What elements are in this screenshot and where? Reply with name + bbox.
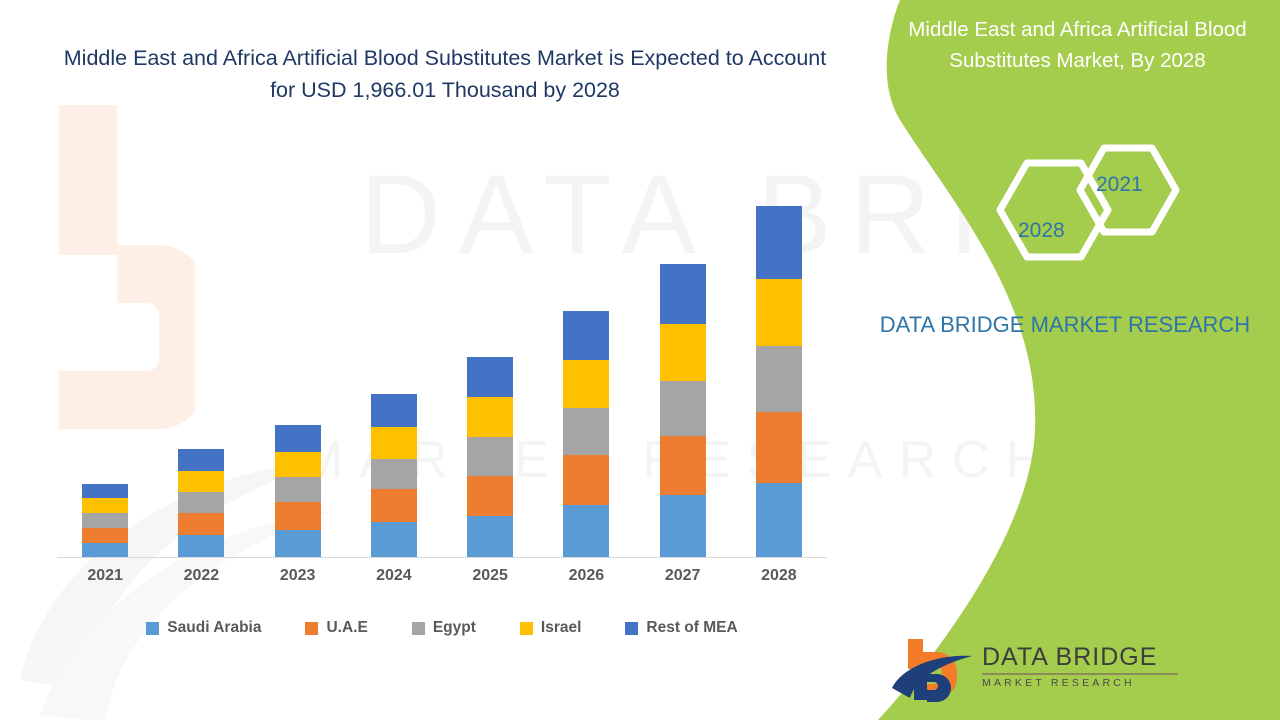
hexagon-2028-label: 2028 <box>1018 219 1065 243</box>
legend-label: Saudi Arabia <box>167 619 261 637</box>
x-axis-label: 2026 <box>538 567 634 585</box>
bar-segment[interactable] <box>275 530 321 558</box>
legend-swatch-icon <box>625 622 638 635</box>
x-axis-tick-labels: 20212022202320242025202620272028 <box>57 567 827 597</box>
bar-segment[interactable] <box>756 346 802 412</box>
legend-item[interactable]: U.A.E <box>305 619 367 637</box>
bar-segment[interactable] <box>756 483 802 558</box>
bar-segment[interactable] <box>756 412 802 483</box>
bar-segment[interactable] <box>467 437 513 476</box>
legend-label: U.A.E <box>326 619 367 637</box>
bar-group[interactable] <box>660 264 706 558</box>
hexagon-2021-label: 2021 <box>1096 173 1143 197</box>
bar-segment[interactable] <box>275 452 321 478</box>
bar-segment[interactable] <box>563 505 609 558</box>
logo-divider <box>982 673 1178 675</box>
bar-group[interactable] <box>82 484 128 558</box>
bar-segment[interactable] <box>563 455 609 505</box>
logo-subtitle: MARKET RESEARCH <box>982 677 1182 689</box>
bar-segment[interactable] <box>178 449 224 471</box>
hexagon-badges: 2021 2028 <box>980 135 1190 290</box>
legend-item[interactable]: Rest of MEA <box>625 619 737 637</box>
branding-panel-content: Middle East and Africa Artificial Blood … <box>830 0 1280 720</box>
page-title: Middle East and Africa Artificial Blood … <box>55 42 835 106</box>
legend-label: Israel <box>541 619 582 637</box>
bar-segment[interactable] <box>660 381 706 436</box>
bar-chart-plot-area <box>57 160 827 558</box>
chart-panel: Middle East and Africa Artificial Blood … <box>0 0 880 720</box>
bar-segment[interactable] <box>563 311 609 360</box>
bar-segment[interactable] <box>178 492 224 513</box>
legend-swatch-icon <box>520 622 533 635</box>
bar-segment[interactable] <box>756 279 802 345</box>
bar-group[interactable] <box>563 311 609 558</box>
company-logo: DATA BRIDGE MARKET RESEARCH <box>890 636 1180 706</box>
x-axis-label: 2024 <box>346 567 442 585</box>
bar-segment[interactable] <box>82 543 128 558</box>
bar-segment[interactable] <box>660 264 706 324</box>
panel-heading: Middle East and Africa Artificial Blood … <box>885 14 1270 76</box>
logo-text-block: DATA BRIDGE MARKET RESEARCH <box>982 642 1182 689</box>
bar-group[interactable] <box>275 425 321 558</box>
bar-segment[interactable] <box>467 516 513 558</box>
x-axis-label: 2022 <box>153 567 249 585</box>
bar-segment[interactable] <box>371 427 417 458</box>
bar-segment[interactable] <box>82 513 128 527</box>
legend-swatch-icon <box>412 622 425 635</box>
x-axis-label: 2025 <box>442 567 538 585</box>
legend-item[interactable]: Israel <box>520 619 582 637</box>
bar-segment[interactable] <box>660 436 706 496</box>
legend-swatch-icon <box>305 622 318 635</box>
bar-segment[interactable] <box>467 397 513 437</box>
hexagon-icons <box>980 135 1190 290</box>
bar-segment[interactable] <box>563 360 609 408</box>
bar-group[interactable] <box>756 206 802 558</box>
bar-segment[interactable] <box>371 489 417 522</box>
bar-segment[interactable] <box>178 513 224 536</box>
x-axis-label: 2023 <box>250 567 346 585</box>
bar-segment[interactable] <box>660 495 706 558</box>
bar-segment[interactable] <box>371 522 417 558</box>
brand-name: DATA BRIDGE MARKET RESEARCH <box>870 308 1260 341</box>
x-axis-label: 2021 <box>57 567 153 585</box>
legend-label: Egypt <box>433 619 476 637</box>
bar-group[interactable] <box>467 357 513 558</box>
bar-segment[interactable] <box>467 357 513 397</box>
bar-segment[interactable] <box>82 528 128 543</box>
bar-segment[interactable] <box>563 408 609 454</box>
x-axis-label: 2028 <box>731 567 827 585</box>
bar-segment[interactable] <box>756 206 802 280</box>
bar-group[interactable] <box>178 449 224 558</box>
bar-segment[interactable] <box>275 502 321 529</box>
legend-label: Rest of MEA <box>646 619 737 637</box>
data-bridge-logo-icon <box>890 636 975 704</box>
bar-segment[interactable] <box>82 498 128 513</box>
x-axis-line <box>57 557 827 558</box>
bar-segment[interactable] <box>275 425 321 452</box>
logo-title: DATA BRIDGE <box>982 642 1182 672</box>
x-axis-label: 2027 <box>635 567 731 585</box>
bar-segment[interactable] <box>371 459 417 489</box>
bar-group[interactable] <box>371 394 417 558</box>
bar-segment[interactable] <box>82 484 128 498</box>
bar-segment[interactable] <box>275 477 321 502</box>
bar-segment[interactable] <box>467 476 513 517</box>
bar-segment[interactable] <box>371 394 417 427</box>
bar-segment[interactable] <box>178 535 224 558</box>
legend-swatch-icon <box>146 622 159 635</box>
bar-segment[interactable] <box>660 324 706 381</box>
chart-legend: Saudi ArabiaU.A.EEgyptIsraelRest of MEA <box>57 615 827 641</box>
bar-segment[interactable] <box>178 471 224 492</box>
branding-panel: Middle East and Africa Artificial Blood … <box>830 0 1280 720</box>
legend-item[interactable]: Saudi Arabia <box>146 619 261 637</box>
legend-item[interactable]: Egypt <box>412 619 476 637</box>
